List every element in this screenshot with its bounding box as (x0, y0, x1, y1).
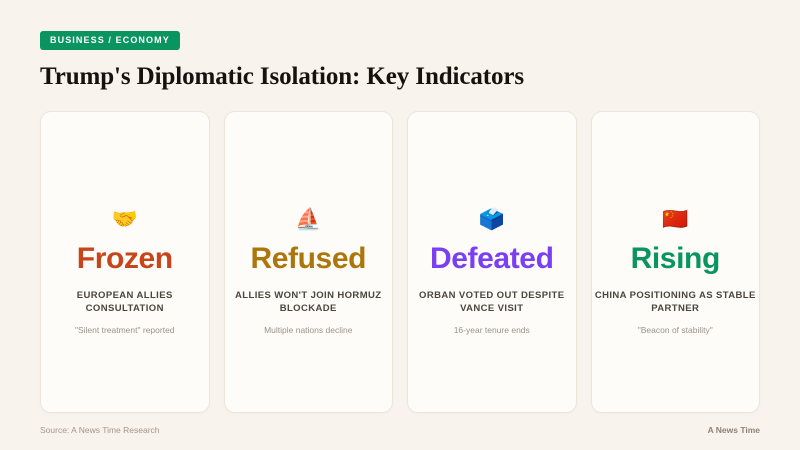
sailboat-icon: ⛵ (295, 208, 321, 232)
ballot-box-icon: 🗳️ (479, 208, 505, 232)
category-badge: BUSINESS / ECONOMY (40, 31, 180, 50)
footer-source: Source: A News Time Research (40, 425, 160, 435)
indicator-note: 16-year tenure ends (454, 325, 530, 336)
indicator-card: 🗳️ Defeated ORBAN VOTED OUT DESPITE VANC… (407, 111, 577, 413)
indicator-card: ⛵ Refused ALLIES WON'T JOIN HORMUZ BLOCK… (224, 111, 394, 413)
header: BUSINESS / ECONOMY Trump's Diplomatic Is… (0, 0, 800, 91)
indicator-label: ALLIES WON'T JOIN HORMUZ BLOCKADE (225, 289, 393, 317)
indicator-card: 🤝 Frozen EUROPEAN ALLIES CONSULTATION "S… (40, 111, 210, 413)
indicator-label: EUROPEAN ALLIES CONSULTATION (41, 289, 209, 317)
indicator-value: Refused (250, 244, 366, 274)
indicator-note: "Beacon of stability" (638, 325, 713, 336)
page-title: Trump's Diplomatic Isolation: Key Indica… (40, 63, 760, 91)
indicator-label: CHINA POSITIONING AS STABLE PARTNER (592, 289, 760, 317)
indicator-card: 🇨🇳 Rising CHINA POSITIONING AS STABLE PA… (591, 111, 761, 413)
footer: Source: A News Time Research A News Time (40, 425, 760, 435)
indicator-label: ORBAN VOTED OUT DESPITE VANCE VISIT (408, 289, 576, 317)
indicator-card-grid: 🤝 Frozen EUROPEAN ALLIES CONSULTATION "S… (40, 111, 760, 413)
indicator-value: Rising (631, 244, 720, 274)
infographic-page: BUSINESS / ECONOMY Trump's Diplomatic Is… (0, 0, 800, 450)
footer-brand: A News Time (708, 425, 760, 435)
handshake-icon: 🤝 (112, 208, 138, 232)
indicator-value: Frozen (77, 244, 173, 274)
china-flag-icon: 🇨🇳 (662, 208, 688, 232)
indicator-note: Multiple nations decline (264, 325, 352, 336)
indicator-note: "Silent treatment" reported (75, 325, 175, 336)
indicator-value: Defeated (430, 244, 554, 274)
